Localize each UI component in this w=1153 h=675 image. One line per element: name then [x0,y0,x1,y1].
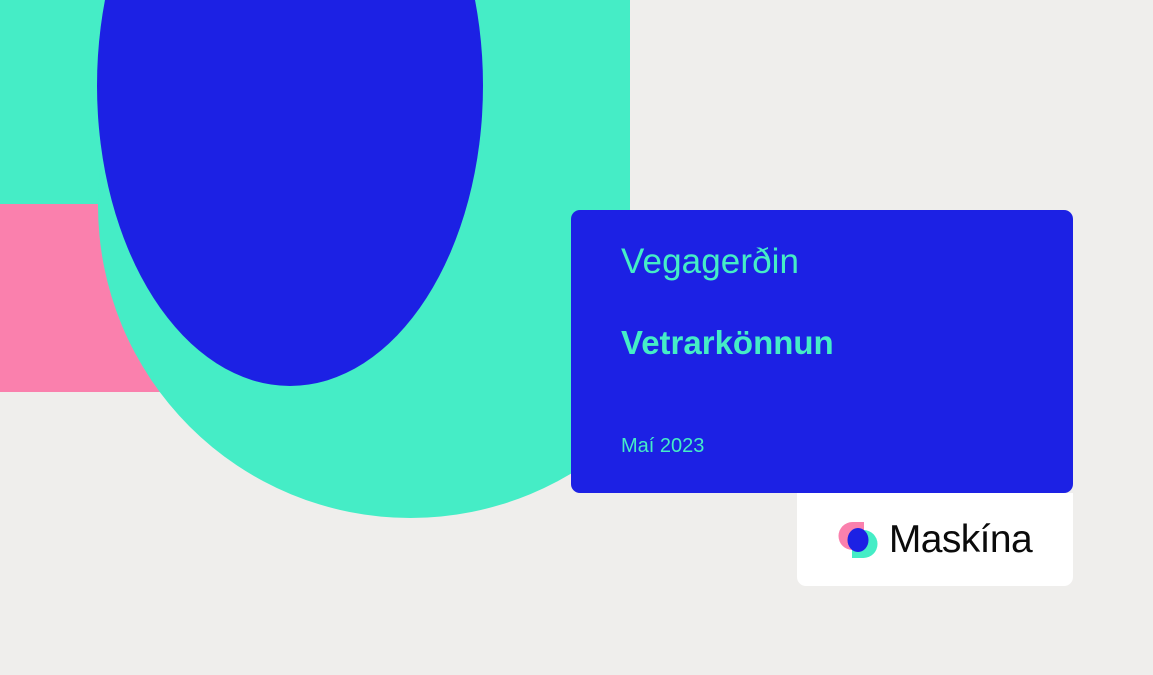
teal-shape-group [0,0,630,675]
page-title: Vetrarkönnun [621,325,1023,361]
maskina-logo-mark [838,520,878,560]
maskina-logo: Maskína [838,520,1032,560]
organization-name: Vegagerðin [621,243,1023,282]
pink-block-shape [0,0,398,392]
logo-card: Maskína [797,493,1073,586]
title-card: Vegagerðin Vetrarkönnun Maí 2023 [571,210,1073,493]
blue-circle-shape [97,0,483,386]
title-slide: Vegagerðin Vetrarkönnun Maí 2023 Maskína [0,0,1153,675]
teal-circle-shape [98,0,630,518]
teal-block-shape [0,0,630,204]
publication-date: Maí 2023 [621,435,704,458]
maskina-wordmark: Maskína [889,520,1032,559]
